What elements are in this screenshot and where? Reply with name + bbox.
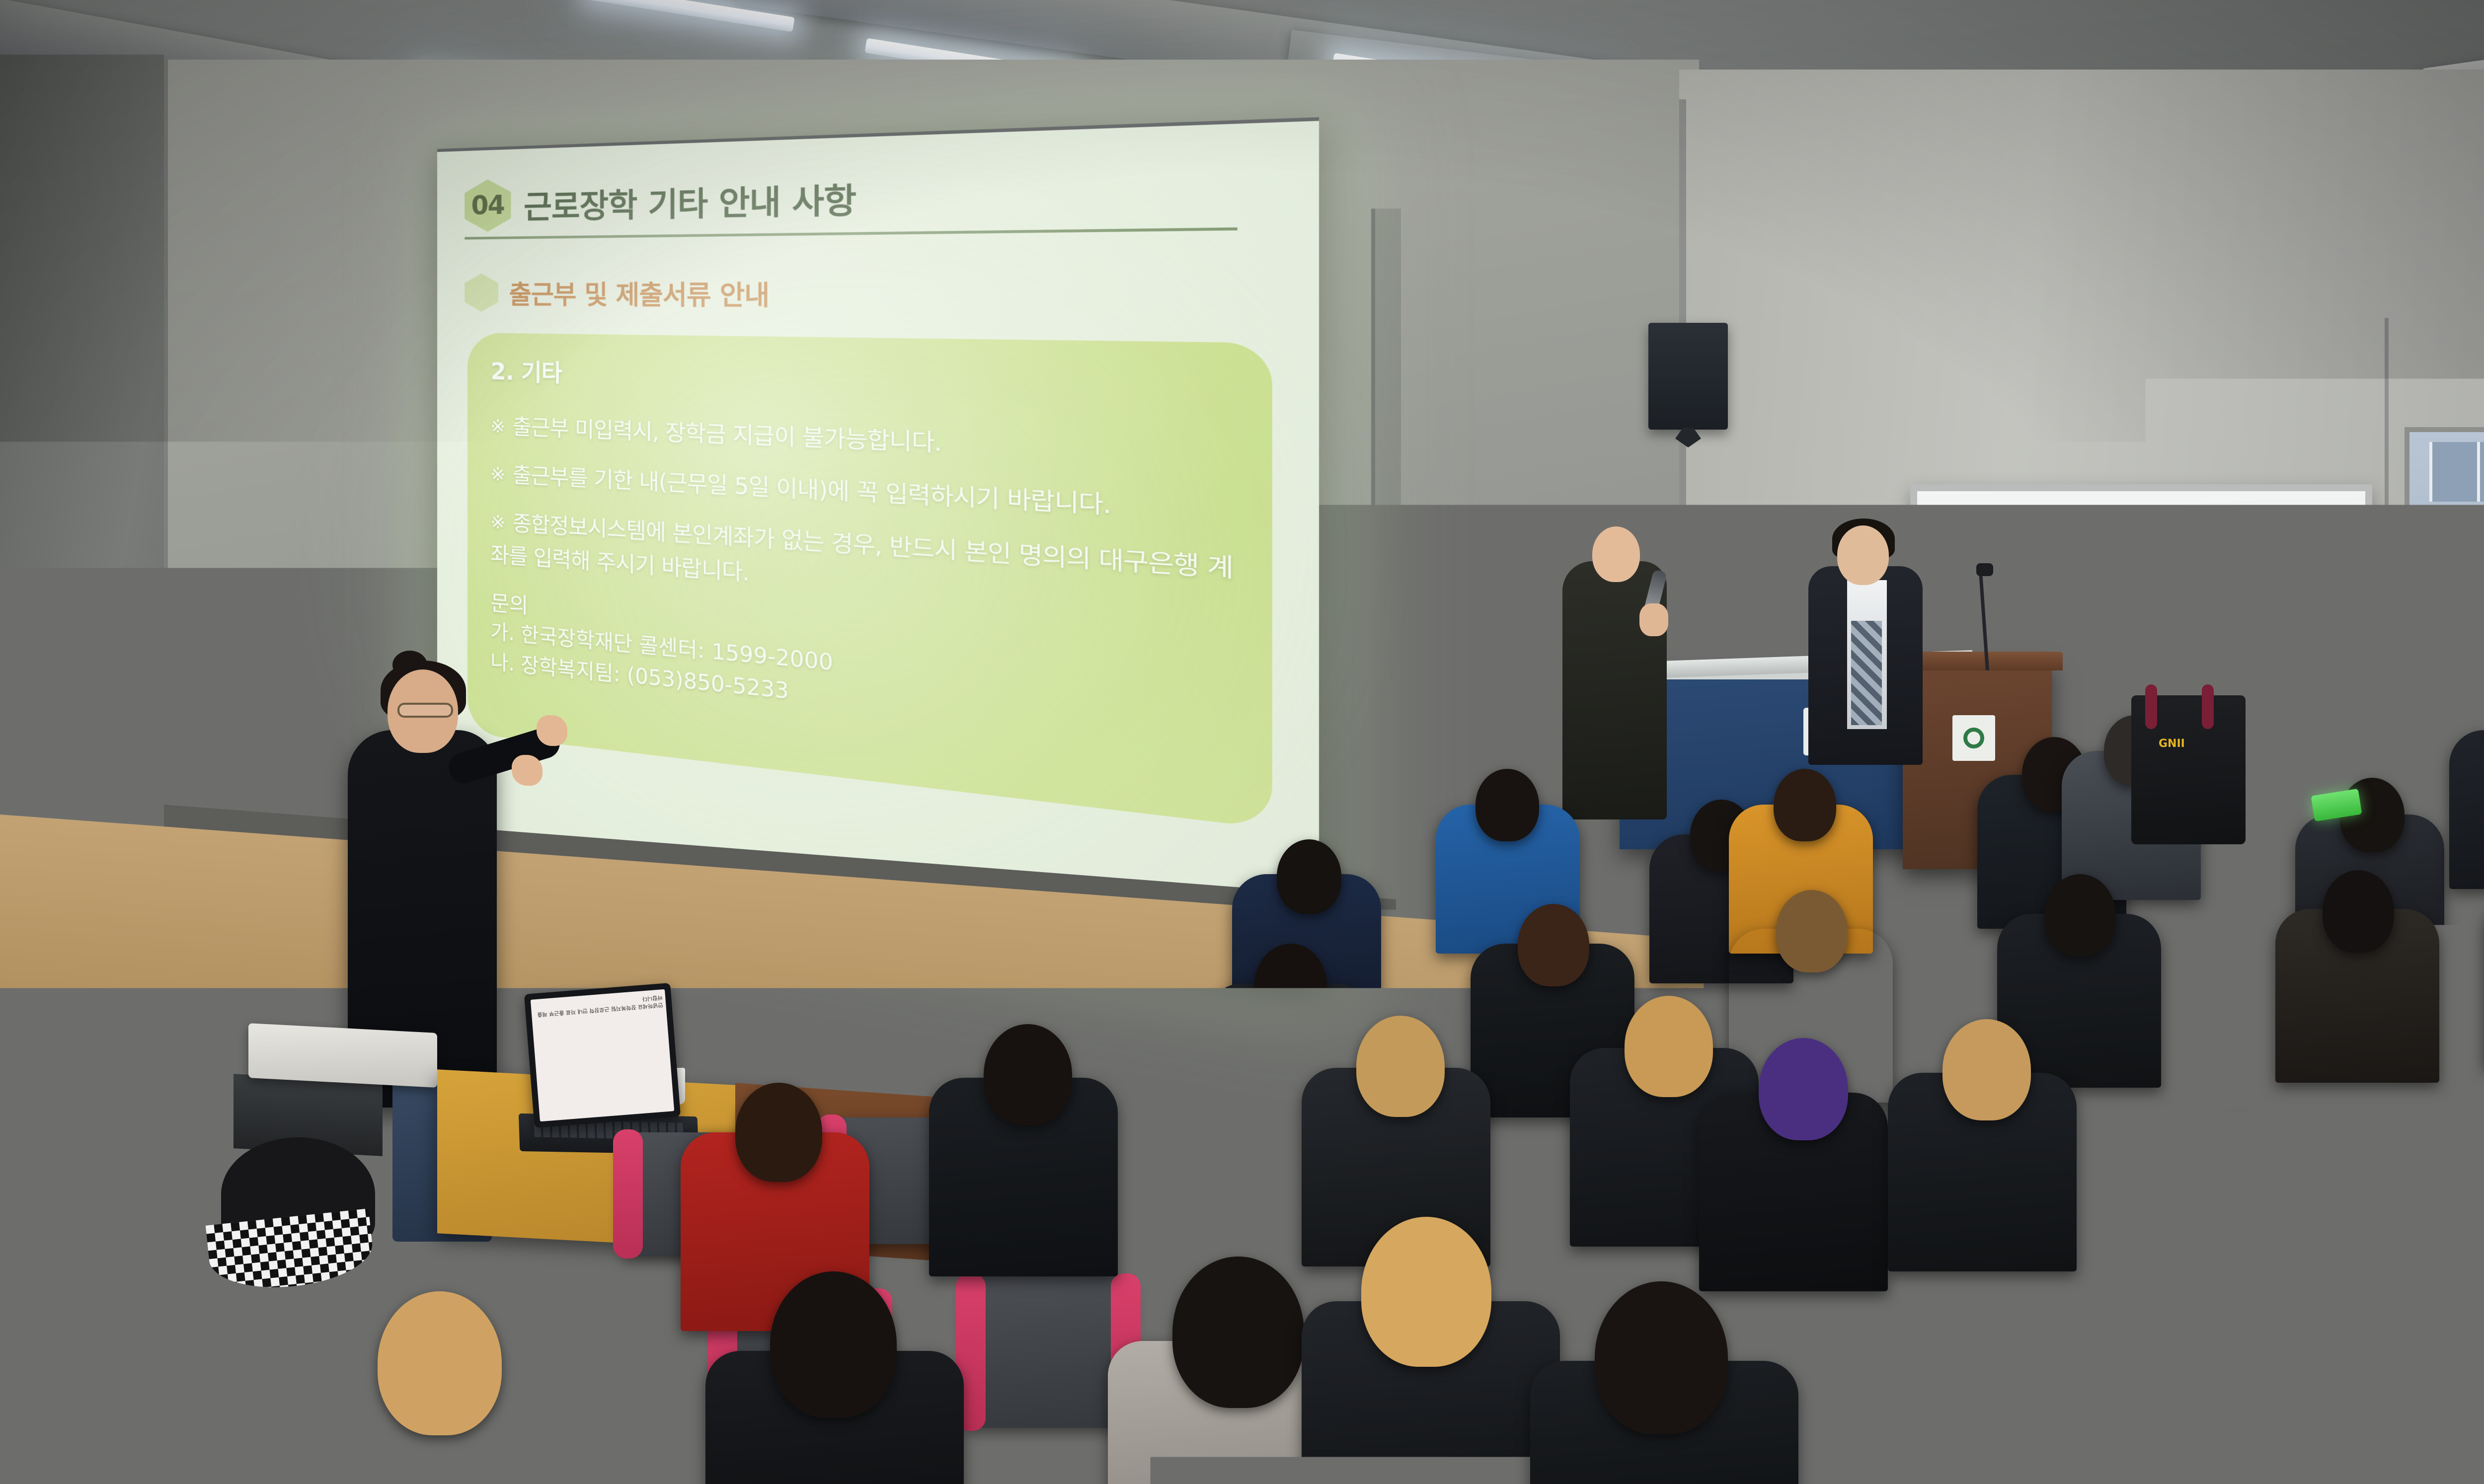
audience-head (2285, 1202, 2429, 1366)
wheelchair-handle (2145, 684, 2157, 729)
window-panel (2405, 427, 2484, 735)
moderator-head (1837, 525, 1889, 585)
slide-header: 04 근로장학 기타 안내 사항 (465, 157, 1276, 232)
audience-head (2323, 870, 2394, 953)
bullet-mark: ※ (490, 464, 504, 485)
bullet-text: 출근부 미입력시, 장학금 지급이 불가능합니다. (513, 414, 942, 456)
wall-shadow (1371, 209, 1401, 874)
audience-head (1942, 1019, 2031, 1120)
bullet-mark: ※ (490, 416, 504, 438)
audience-head (1776, 890, 1848, 972)
interpreter-hand (512, 755, 543, 786)
audience-head (735, 1083, 822, 1182)
presenter-head (1592, 526, 1640, 582)
presenter-hand (1639, 603, 1668, 636)
bullet-mark: ※ (490, 512, 504, 533)
wheelchair-handle (2202, 684, 2214, 729)
content-lead: 2. 기타 (490, 353, 1240, 406)
subsection-title: 출근부 및 제출서류 안내 (509, 274, 770, 312)
audience-head (984, 1024, 1072, 1125)
window-band (2409, 531, 2484, 554)
section-number-badge: 04 (465, 179, 511, 232)
lecture-hall-scene: 비상구 04 근로장학 기타 안내 사항 출근부 및 제출서류 안내 2. 기타… (0, 0, 2484, 1484)
laptop[interactable]: 안녕하세요 장학복지팀 근로장학 안내 자료 출근부 제출 바랍니다 (524, 983, 681, 1128)
subsection-bullet-icon (465, 274, 498, 312)
glasses-icon (397, 703, 453, 718)
portable-projector (248, 1023, 437, 1088)
audience-head (2265, 1060, 2358, 1167)
audience-head (2044, 874, 2116, 957)
audience-head (1356, 1016, 1445, 1117)
audience-head (1595, 1281, 1728, 1434)
audience-member (2449, 730, 2484, 889)
exit-sign: 비상구 (2299, 719, 2373, 748)
audience-head (1625, 996, 1713, 1097)
auditorium-seat[interactable] (964, 1276, 1133, 1428)
podium-logo-icon (1952, 715, 1995, 761)
wheelchair-brand-label: GNII (2159, 738, 2185, 750)
interpreter-hand (537, 715, 567, 746)
wall-speaker (1648, 323, 1728, 430)
slide-content-box: 2. 기타 ※출근부 미입력시, 장학금 지급이 불가능합니다. ※출근부를 기… (467, 333, 1272, 829)
audience-head (1518, 904, 1589, 986)
slide-title: 근로장학 기타 안내 사항 (524, 173, 856, 228)
exit-arrow-icon (2312, 728, 2322, 739)
moderator-shirt-pattern (1851, 621, 1882, 725)
audience-head (1774, 769, 1836, 841)
window-band (2409, 631, 2484, 651)
bullet-text: 출근부를 기한 내(근무일 5일 이내)에 꼭 입력하시기 바랍니다. (513, 462, 1111, 519)
audience-head (770, 1271, 897, 1418)
audience-head (1759, 1038, 1848, 1140)
audience-head (2047, 1252, 2182, 1407)
subsection-row: 출근부 및 제출서류 안내 (465, 271, 1276, 317)
audience-head (378, 1291, 502, 1435)
laptop-screen: 안녕하세요 장학복지팀 근로장학 안내 자료 출근부 제출 바랍니다 (531, 989, 674, 1122)
audience-head (1361, 1217, 1491, 1367)
laptop-screen-text: 안녕하세요 장학복지팀 근로장학 안내 자료 출근부 제출 바랍니다 (534, 993, 663, 1018)
audience-head (1172, 1257, 1304, 1408)
audience-head (1254, 944, 1327, 1027)
audience-member (99, 1311, 338, 1484)
microphone-head-icon (1976, 563, 1993, 576)
audience-head (1277, 839, 1341, 914)
exit-sign-label: 비상구 (2325, 725, 2360, 743)
window-grid (2429, 442, 2484, 502)
audience-head (1475, 769, 1539, 841)
